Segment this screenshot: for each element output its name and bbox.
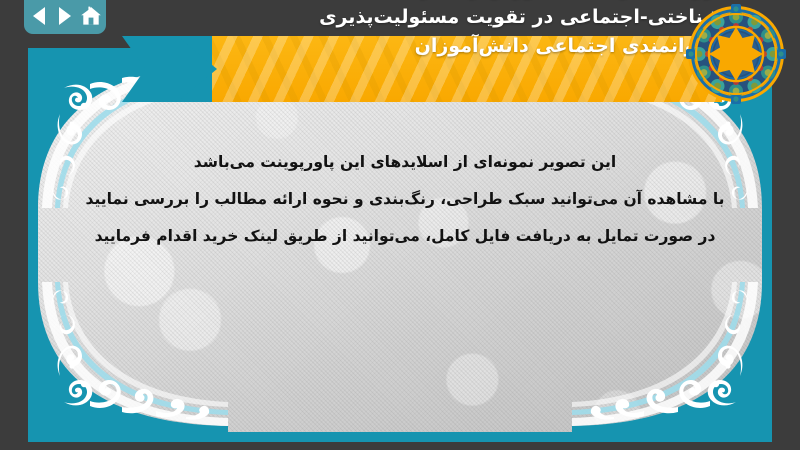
- forward-button[interactable]: [54, 4, 76, 28]
- islamic-medallion-icon: [686, 4, 786, 104]
- slide-body-text: این تصویر نمونه‌ای از اسلایدهای این پاور…: [78, 144, 732, 255]
- back-button[interactable]: [28, 4, 50, 28]
- home-button[interactable]: [80, 4, 102, 28]
- corner-flourish-icon-bottom-left: [38, 282, 228, 432]
- body-line-1: این تصویر نمونه‌ای از اسلایدهای این پاور…: [78, 144, 732, 181]
- page-title: ارزیابی اثربخشی آموزش راهکارهای شناختی-ا…: [252, 0, 722, 61]
- slide-canvas: این تصویر نمونه‌ای از اسلایدهای این پاور…: [38, 58, 762, 432]
- triangle-left-icon: [33, 7, 45, 25]
- corner-flourish-icon-bottom-right: [572, 282, 762, 432]
- body-line-2: با مشاهده آن می‌توانید سبک طراحی، رنگ‌بن…: [78, 181, 732, 218]
- triangle-right-icon: [59, 7, 71, 25]
- home-icon: [80, 6, 102, 26]
- body-line-3: در صورت تمایل به دریافت فایل کامل، می‌تو…: [78, 218, 732, 255]
- slide-frame: این تصویر نمونه‌ای از اسلایدهای این پاور…: [28, 48, 772, 442]
- navigation-bar: [24, 0, 106, 34]
